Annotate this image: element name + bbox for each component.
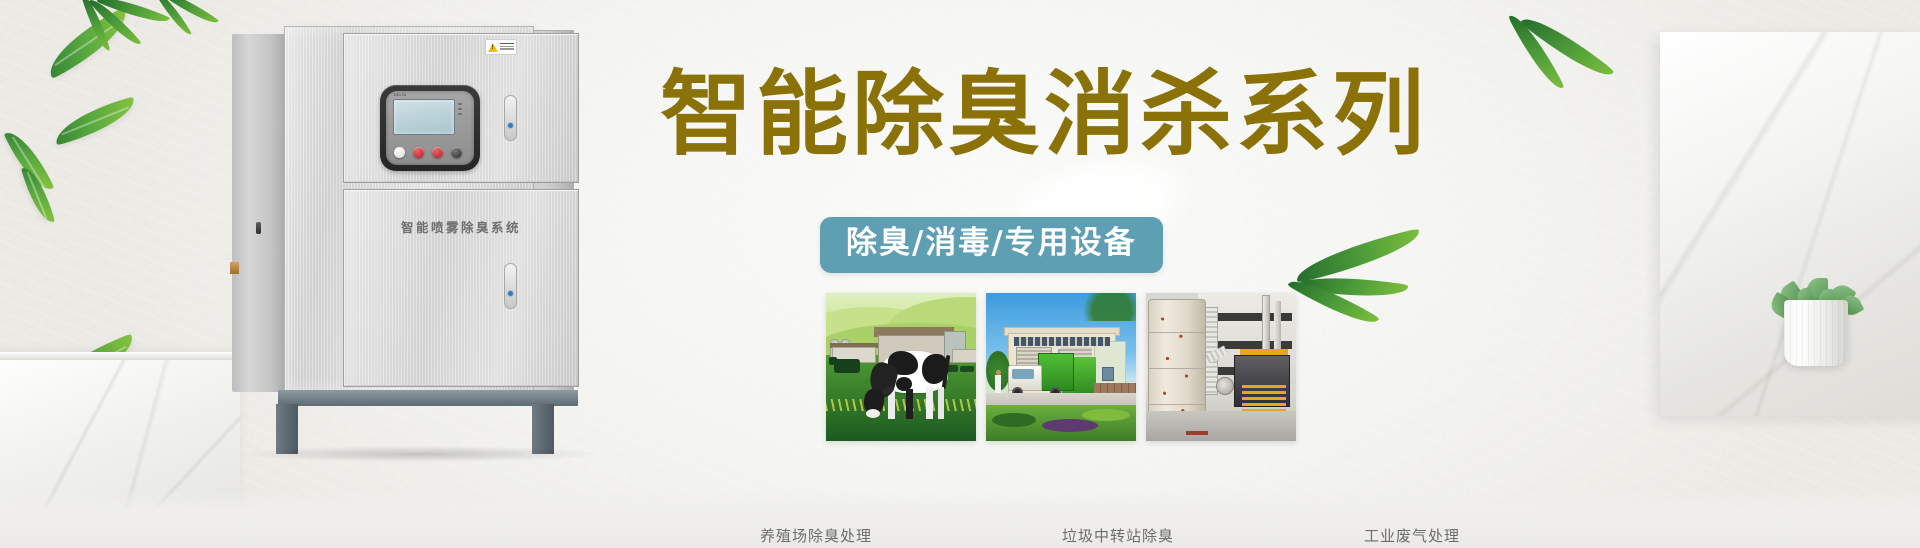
industrial-plant-photo [1146,293,1296,441]
cabinet-body: DELTA 智能喷雾除臭系统 [284,26,534,394]
green-leaf-icon [21,164,55,227]
hmi-control-panel: DELTA [380,85,480,171]
white-pot-icon [1784,300,1848,366]
subtitle-pill: 除臭/消毒/专用设备 [820,217,1163,273]
deodorizing-machine-photo: DELTA 智能喷雾除臭系统 [232,26,577,426]
stop-button-icon [432,147,443,158]
warning-triangle-icon [488,43,498,52]
hmi-panel-face: DELTA [386,91,474,165]
green-leaf-icon [50,97,140,146]
thumbnail-industrial-deodorization[interactable] [1146,293,1296,441]
bottom-caption-row: 养殖场除臭处理 垃圾中转站除臭 工业废气处理 [760,525,1460,546]
bottom-strip: 养殖场除臭处理 垃圾中转站除臭 工业废气处理 [0,490,1920,548]
cabinet-handle-upper [504,95,517,141]
bottom-caption-item: 垃圾中转站除臭 [1062,525,1174,546]
warning-label-lines [500,43,514,51]
bottom-caption-item: 工业废气处理 [1364,525,1460,546]
bottom-caption-item: 养殖场除臭处理 [760,525,872,546]
banner-stage: DELTA 智能喷雾除臭系统 智能除臭消杀系列 除臭/消毒/专用设备 [0,0,1920,548]
warning-label [485,39,517,55]
cabinet-handle-lower [504,263,517,309]
transfer-station-illustration [986,293,1136,441]
farm-scene-illustration [826,293,976,441]
banana-leaf-icon [1290,240,1470,330]
thumbnail-strip [826,293,1296,441]
cabinet-ground-shadow [240,446,600,462]
page-title: 智能除臭消杀系列 [660,60,1340,170]
selector-knob-icon [451,147,462,158]
banana-leaf-icon [1520,0,1670,70]
start-button-icon [413,147,424,158]
cabinet-label-text: 智能喷雾除臭系统 [343,217,579,236]
cabinet-side-lock-icon [256,222,261,234]
hmi-brand-label: DELTA [394,93,406,97]
hmi-button-row [394,147,462,158]
thumbnail-livestock-farm[interactable] [826,293,976,441]
cabinet-hinge-icon [230,262,239,274]
indicator-lamp-icon [394,147,405,158]
hmi-display-screen [393,99,455,135]
thumbnail-transfer-station[interactable] [986,293,1136,441]
marble-slab-left-edge [0,352,240,360]
cabinet-side-panel [232,34,288,392]
hmi-led-indicators [458,103,462,118]
